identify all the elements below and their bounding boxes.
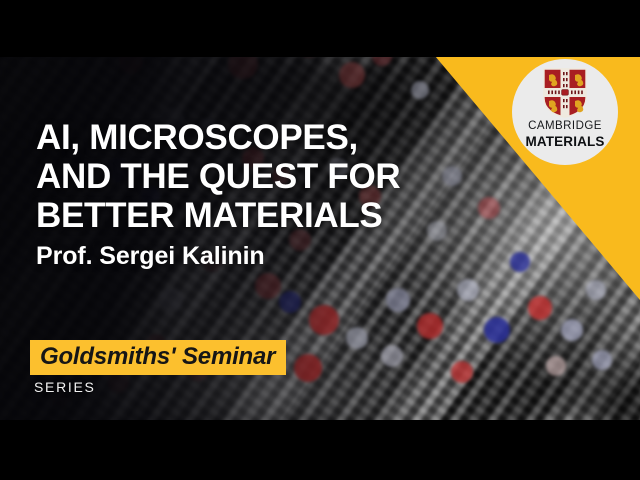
title-line-3: BETTER MATERIALS [36, 196, 400, 235]
series-badge: Goldsmiths' Seminar SERIES [30, 340, 286, 395]
letterbox-bottom [0, 420, 640, 480]
logo-line-materials: MATERIALS [525, 135, 604, 149]
video-thumbnail: CAMBRIDGE MATERIALS AI, MICROSCOPES, AND… [0, 0, 640, 480]
cambridge-materials-logo: CAMBRIDGE MATERIALS [512, 59, 618, 165]
cambridge-coat-of-arms-icon [543, 68, 587, 118]
letterbox-top [0, 0, 640, 57]
series-name-text: Goldsmiths' Seminar [40, 343, 275, 370]
series-name-highlight: Goldsmiths' Seminar [30, 340, 286, 375]
logo-line-cambridge: CAMBRIDGE [528, 121, 602, 133]
title-line-1: AI, MICROSCOPES, [36, 118, 400, 157]
series-word-text: SERIES [34, 379, 286, 395]
video-title: AI, MICROSCOPES, AND THE QUEST FOR BETTE… [36, 118, 400, 235]
title-line-2: AND THE QUEST FOR [36, 157, 400, 196]
speaker-name: Prof. Sergei Kalinin [36, 242, 400, 271]
title-block: AI, MICROSCOPES, AND THE QUEST FOR BETTE… [36, 118, 400, 271]
